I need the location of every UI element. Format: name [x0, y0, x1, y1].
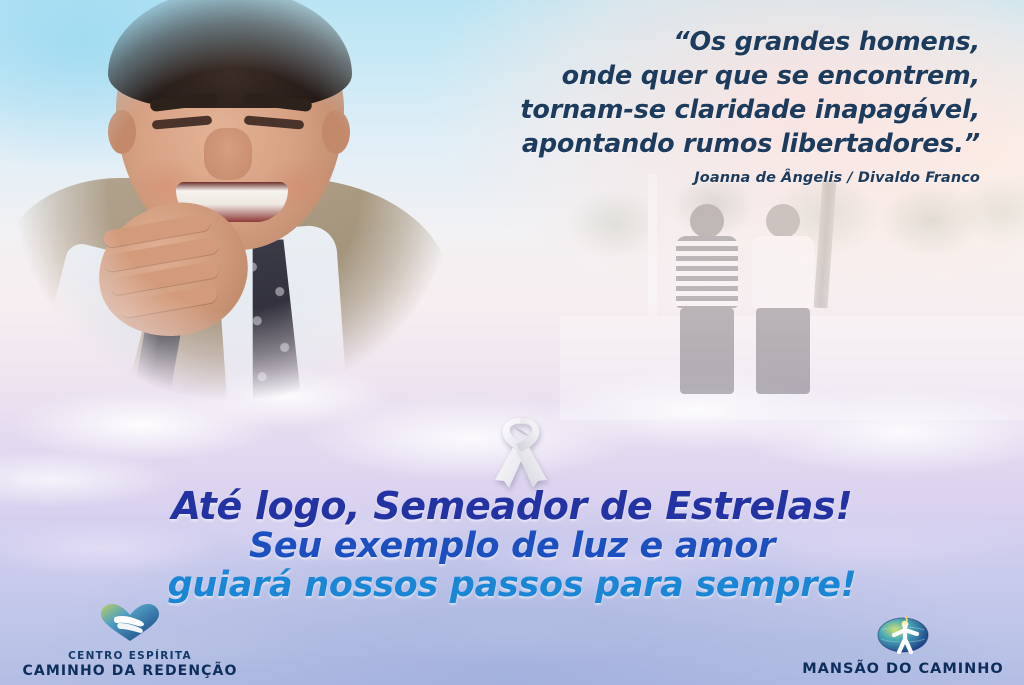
scene-person-striped [676, 204, 738, 394]
quote-block: “Os grandes homens, onde quer que se enc… [420, 26, 980, 162]
quote-line-3: tornam-se claridade inapagável, [420, 94, 980, 128]
heart-hands-icon [4, 603, 256, 647]
globe-figure-icon [788, 612, 1018, 658]
headline-line-2: Seu exemplo de luz e amor [0, 527, 1024, 566]
quote-attribution: Joanna de Ângelis / Divaldo Franco [420, 170, 980, 186]
headline-line-1: Até logo, Semeador de Estrelas! [0, 486, 1024, 527]
logo-right-line-1: MANSÃO DO CAMINHO [788, 661, 1018, 677]
logo-left-line-2: CAMINHO DA REDENÇÃO [4, 663, 256, 679]
quote-line-4: apontando rumos libertadores.” [420, 128, 980, 162]
background-scene-photo [560, 170, 1024, 420]
logo-mansao-do-caminho[interactable]: MANSÃO DO CAMINHO [788, 612, 1018, 677]
logo-left-line-1: CENTRO ESPÍRITA [4, 650, 256, 662]
scene-person-white [752, 204, 814, 394]
memorial-poster: “Os grandes homens, onde quer que se enc… [0, 0, 1024, 685]
quote-line-1: “Os grandes homens, [420, 26, 980, 60]
portrait-nose [204, 128, 252, 180]
mourning-ribbon-icon [484, 410, 558, 488]
portrait-ear-right [322, 110, 350, 154]
scene-pole [648, 174, 657, 324]
portrait-hair [108, 0, 352, 108]
quote-line-2: onde quer que se encontrem, [420, 60, 980, 94]
portrait-ear-left [108, 110, 136, 154]
logo-centro-espirita[interactable]: CENTRO ESPÍRITA CAMINHO DA REDENÇÃO [4, 603, 256, 679]
headline-line-3: guiará nossos passos para sempre! [0, 566, 1024, 605]
portrait-photo [0, 0, 460, 422]
headline-block: Até logo, Semeador de Estrelas! Seu exem… [0, 486, 1024, 605]
